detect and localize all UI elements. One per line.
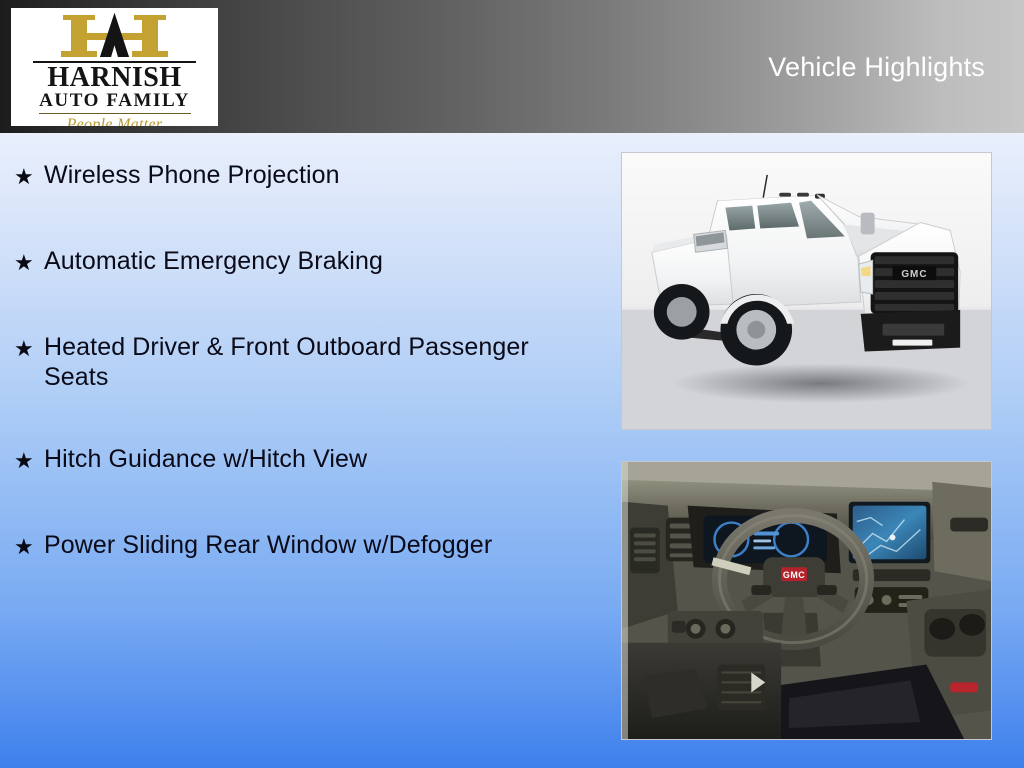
harnish-monogram-icon [11,13,218,63]
svg-text:GMC: GMC [901,269,927,280]
exterior-photo[interactable]: GMC [621,152,992,430]
logo-name-line2: AUTO FAMILY [11,91,218,111]
list-item: ★ Automatic Emergency Braking [14,246,594,280]
highlight-text: Hitch Guidance w/Hitch View [44,444,594,474]
star-bullet-icon: ★ [14,246,44,280]
interior-photo[interactable]: GMC [621,461,992,740]
star-bullet-icon: ★ [14,530,44,564]
logo-name-line1: HARNISH [11,64,218,91]
highlight-text: Power Sliding Rear Window w/Defogger [44,530,594,560]
svg-text:GMC: GMC [783,570,805,580]
list-item: ★ Power Sliding Rear Window w/Defogger [14,530,594,564]
highlight-text: Automatic Emergency Braking [44,246,594,276]
highlight-text: Wireless Phone Projection [44,160,594,190]
logo-tagline: People Matter [11,115,218,126]
star-bullet-icon: ★ [14,160,44,194]
page-title: Vehicle Highlights [768,51,985,83]
star-bullet-icon: ★ [14,444,44,478]
vehicle-highlights-list: ★ Wireless Phone Projection ★ Automatic … [14,160,594,616]
list-item: ★ Hitch Guidance w/Hitch View [14,444,594,478]
list-item: ★ Heated Driver & Front Outboard Passeng… [14,332,594,392]
logo-divider-bottom [39,113,191,114]
dealer-logo[interactable]: HARNISH AUTO FAMILY People Matter [11,8,218,126]
list-item: ★ Wireless Phone Projection [14,160,594,194]
highlight-text: Heated Driver & Front Outboard Passenger… [44,332,594,392]
star-bullet-icon: ★ [14,332,44,366]
